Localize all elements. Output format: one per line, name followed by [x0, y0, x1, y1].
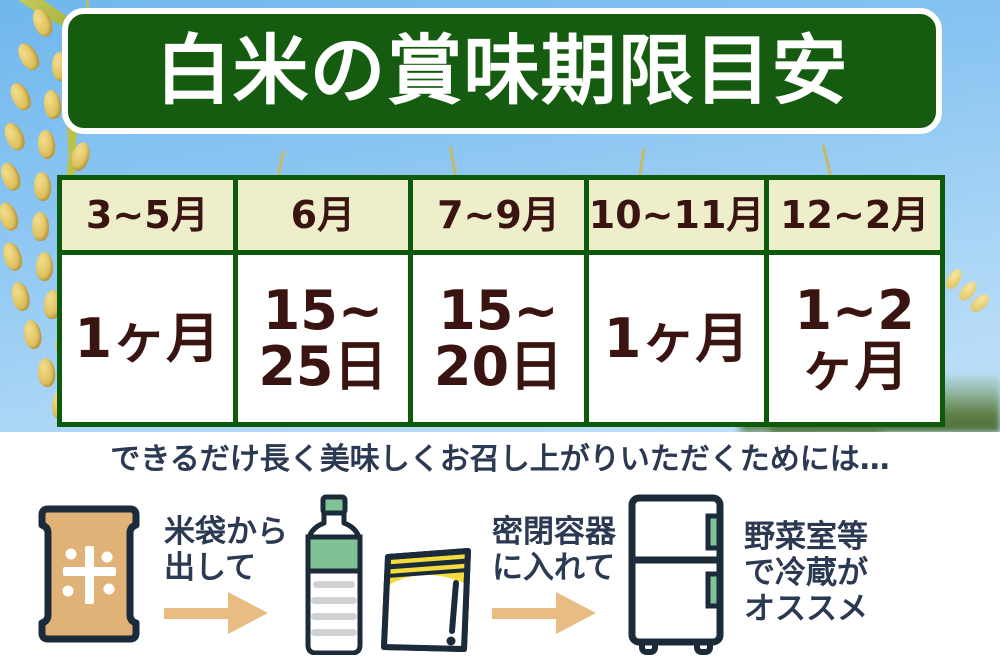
table-value-cell: 15~ 20日	[413, 255, 584, 422]
zip-pouch-icon	[376, 543, 474, 655]
expiry-table: 3~5月 6月 7~9月 10~11月 12~2月 1ヶ月 15~ 25日 15…	[57, 175, 945, 427]
table-value-cell: 1~2 ヶ月	[769, 255, 940, 422]
value-line: 1ヶ月	[75, 311, 221, 366]
storage-steps: 米袋から 出して	[0, 482, 1000, 666]
step-3-icons	[622, 492, 730, 656]
step-2-text: 密閉容器 に入れて	[492, 515, 616, 633]
step-3-text: 野菜室等 で冷蔵が オススメ	[744, 520, 868, 628]
value-line: 15~	[434, 283, 563, 338]
subtitle-text: できるだけ長く美味しくお召し上がりいただくためには…	[0, 434, 1000, 478]
rice-bag-icon	[30, 501, 148, 647]
step-2-icons	[298, 493, 474, 655]
step-1-arrow-icon	[164, 593, 276, 633]
value-line: 1~2	[794, 283, 914, 338]
title-banner: 白米の賞味期限目安	[62, 8, 942, 134]
value-line: 25日	[258, 339, 387, 394]
table-header-cell: 12~2月	[769, 180, 940, 250]
table-header-cell: 3~5月	[62, 180, 233, 250]
table-value-cell: 1ヶ月	[589, 255, 765, 422]
step-airtight-container: 密閉容器 に入れて	[298, 482, 616, 666]
table-value-cell: 15~ 25日	[238, 255, 409, 422]
table-header-cell: 7~9月	[413, 180, 584, 250]
refrigerator-icon	[622, 492, 730, 656]
step-text-line: オススメ	[744, 592, 868, 628]
value-line: 15~	[258, 283, 387, 338]
page-title: 白米の賞味期限目安	[156, 33, 849, 109]
plastic-bottle-icon	[298, 493, 370, 655]
table-value-cell: 1ヶ月	[62, 255, 233, 422]
step-1-text: 米袋から 出して	[164, 515, 288, 633]
step-remove-from-bag: 米袋から 出して	[30, 482, 288, 666]
step-1-icons	[30, 501, 148, 647]
step-2-arrow-icon	[492, 593, 604, 633]
step-text-line: で冷蔵が	[744, 556, 868, 592]
value-line: 20日	[434, 339, 563, 394]
step-text-line: 野菜室等	[744, 520, 868, 556]
step-text-line: に入れて	[492, 551, 616, 587]
step-text-line: 出して	[164, 551, 288, 587]
table-header-cell: 10~11月	[589, 180, 765, 250]
value-line: 1ヶ月	[604, 311, 750, 366]
infographic-poster: 白米の賞味期限目安 3~5月 6月 7~9月 10~11月 12~2月 1ヶ月 …	[0, 0, 1000, 666]
step-text-line: 米袋から	[164, 515, 288, 551]
value-line: ヶ月	[794, 339, 914, 394]
table-header-cell: 6月	[238, 180, 409, 250]
step-refrigerate: 野菜室等 で冷蔵が オススメ	[622, 482, 868, 666]
step-text-line: 密閉容器	[492, 515, 616, 551]
